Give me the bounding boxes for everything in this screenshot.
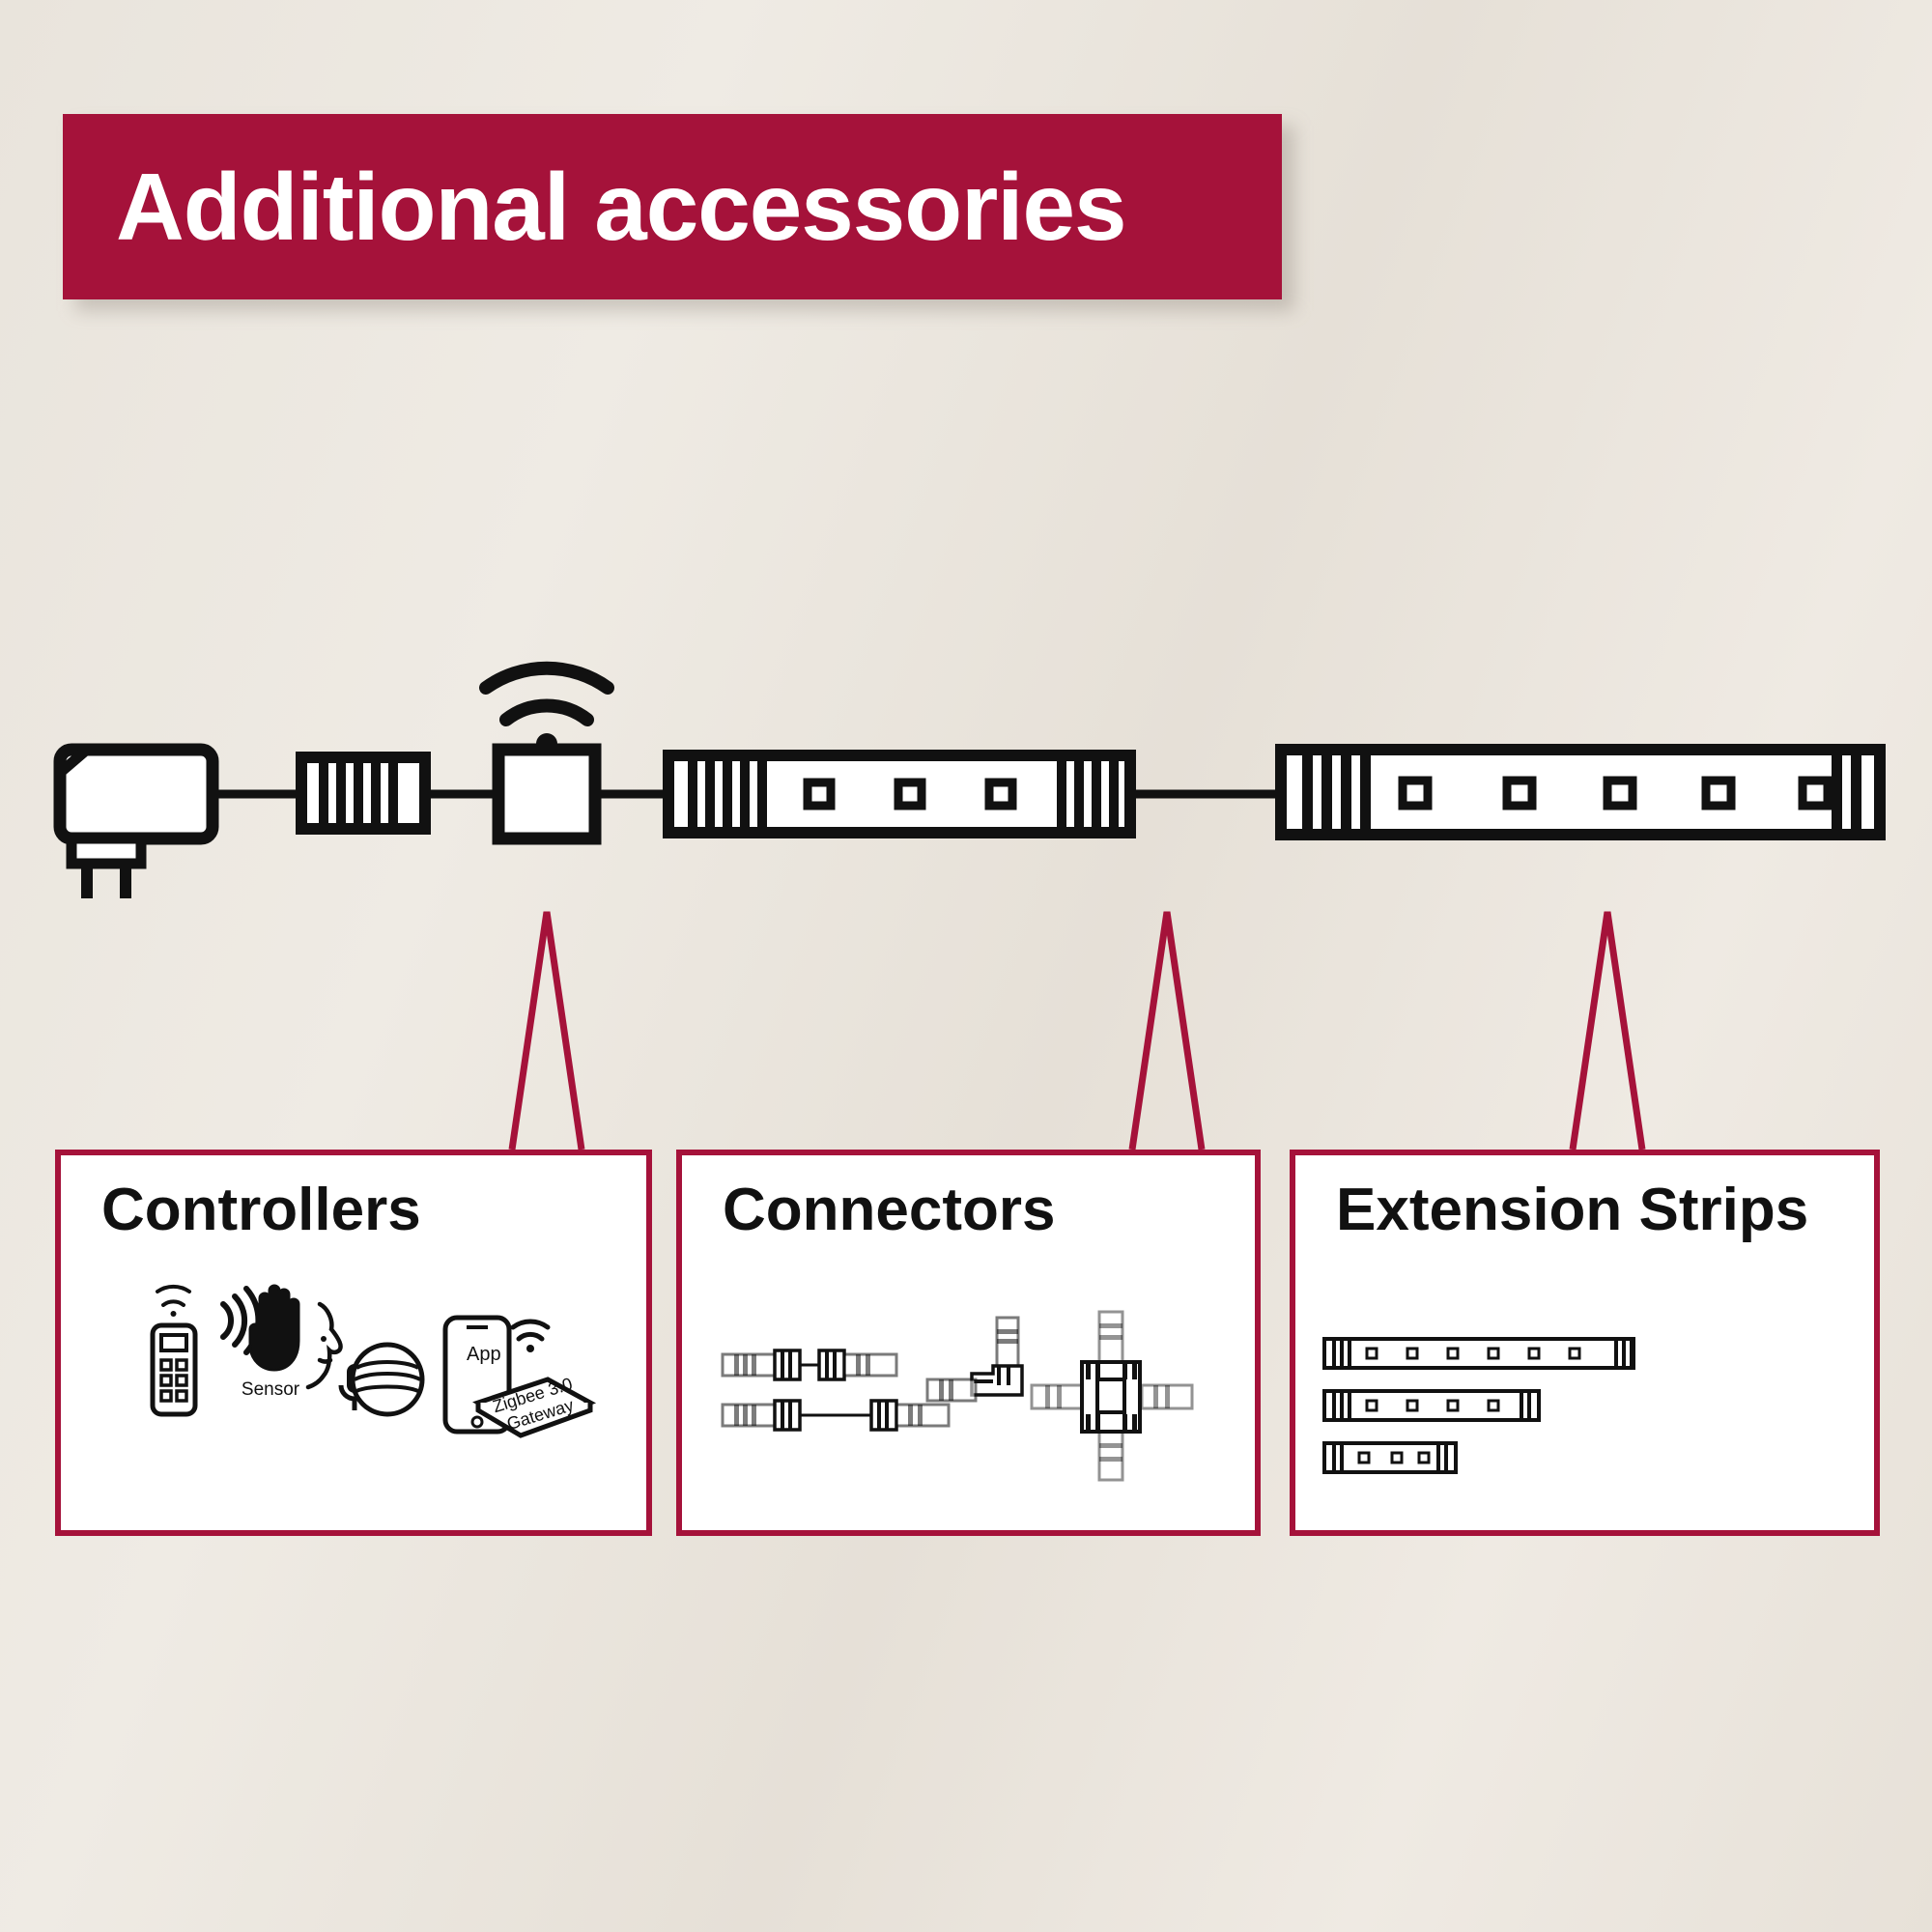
card-controllers-title: Controllers [101, 1180, 421, 1240]
motion-sensor-icon [223, 1286, 298, 1370]
card-connectors-body [682, 1279, 1255, 1542]
sensor-label: Sensor [241, 1379, 300, 1400]
card-connectors-title: Connectors [723, 1180, 1055, 1240]
pointer-controllers [512, 912, 582, 1150]
wireless-controller-box [498, 750, 595, 838]
pointer-extension [1573, 912, 1642, 1150]
cross-connector-icon [1032, 1312, 1192, 1480]
pointer-connectors [1132, 912, 1202, 1150]
led-strip-segment-2 [1281, 750, 1880, 835]
card-controllers-body: Sensor [61, 1279, 646, 1542]
card-connectors[interactable]: Connectors [676, 1150, 1261, 1536]
smart-speaker-icon [353, 1345, 422, 1414]
remote-control-icon [153, 1287, 195, 1414]
extension-strip-short-icon [1324, 1443, 1456, 1472]
app-label: App [467, 1344, 501, 1365]
wifi-icon [486, 668, 608, 754]
extension-strip-medium-icon [1324, 1391, 1539, 1420]
led-strip-segment-1 [668, 755, 1130, 833]
connector-block-1 [301, 757, 425, 829]
card-extension-title: Extension Strips [1336, 1180, 1808, 1240]
card-extension-body [1295, 1279, 1874, 1542]
voice-control-icon [308, 1304, 341, 1387]
straight-connector-icon [723, 1350, 949, 1430]
wifi-small-icon [513, 1321, 548, 1352]
card-extension-strips[interactable]: Extension Strips [1290, 1150, 1880, 1536]
card-controllers[interactable]: Controllers [55, 1150, 652, 1536]
extension-strip-long-icon [1324, 1339, 1634, 1368]
page-title: Additional accessories [116, 159, 1126, 254]
power-supply-plug [60, 750, 213, 898]
corner-connector-icon [927, 1318, 1022, 1401]
title-banner: Additional accessories [63, 114, 1282, 299]
